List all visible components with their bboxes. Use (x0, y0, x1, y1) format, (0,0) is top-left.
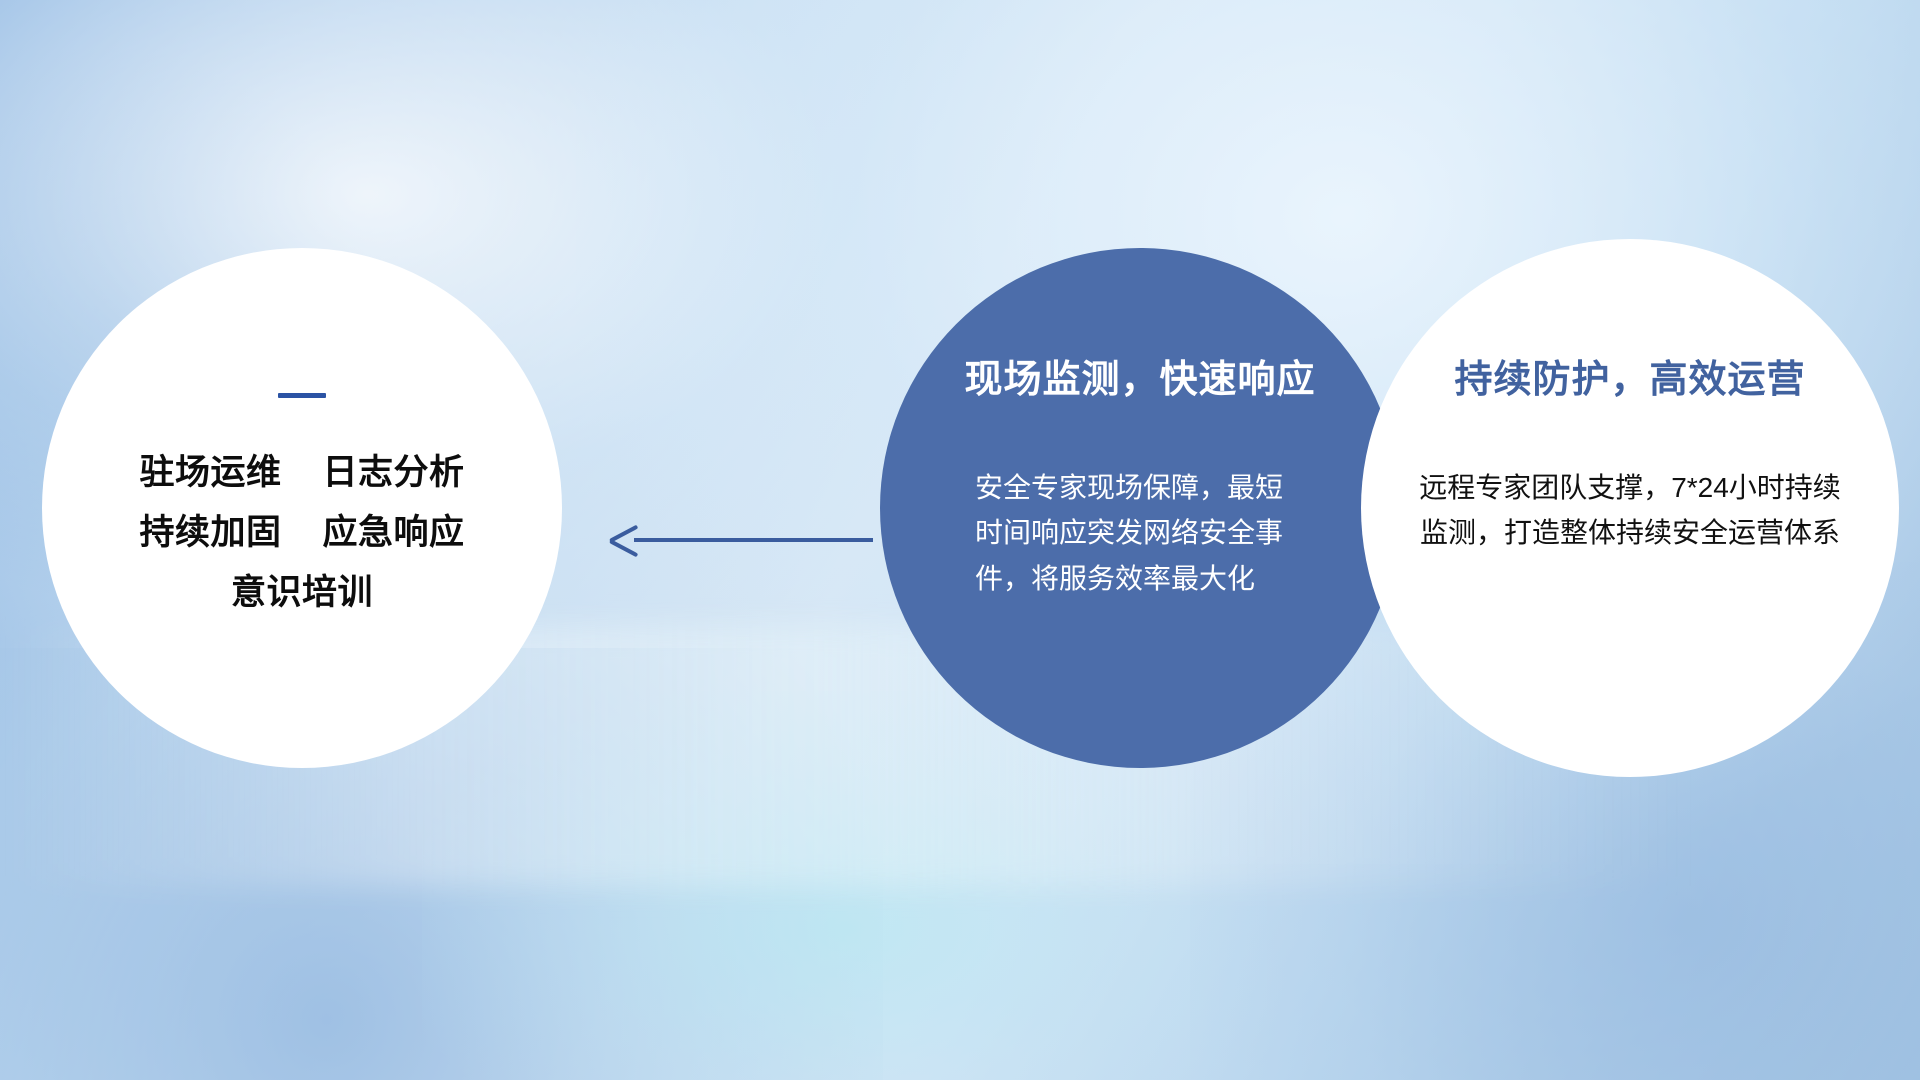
onsite-monitoring-circle[interactable]: 现场监测，快速响应 安全专家现场保障，最短时间响应突发网络安全事件，将服务效率最… (880, 248, 1400, 768)
capabilities-list: 驻场运维 日志分析 持续加固 应急响应 意识培训 (140, 443, 465, 624)
onsite-monitoring-body: 安全专家现场保障，最短时间响应突发网络安全事件，将服务效率最大化 (975, 465, 1305, 601)
onsite-monitoring-title: 现场监测，快速响应 (964, 348, 1315, 403)
capabilities-line-1: 驻场运维 日志分析 (140, 443, 465, 503)
divider-dash (278, 393, 326, 398)
arrow-shaft (634, 538, 873, 542)
continuous-protection-circle[interactable]: 持续防护，高效运营 远程专家团队支撑，7*24小时持续监测，打造整体持续安全运营… (1370, 248, 1890, 768)
continuous-protection-body: 远程专家团队支撑，7*24小时持续监测，打造整体持续安全运营体系 (1415, 465, 1845, 556)
left-arrow-icon (608, 523, 873, 557)
capabilities-circle[interactable]: 驻场运维 日志分析 持续加固 应急响应 意识培训 (42, 248, 562, 768)
arrow-head (608, 525, 640, 555)
capabilities-line-3: 意识培训 (140, 563, 465, 623)
continuous-protection-title: 持续防护，高效运营 (1454, 348, 1805, 403)
capabilities-line-2: 持续加固 应急响应 (140, 503, 465, 563)
